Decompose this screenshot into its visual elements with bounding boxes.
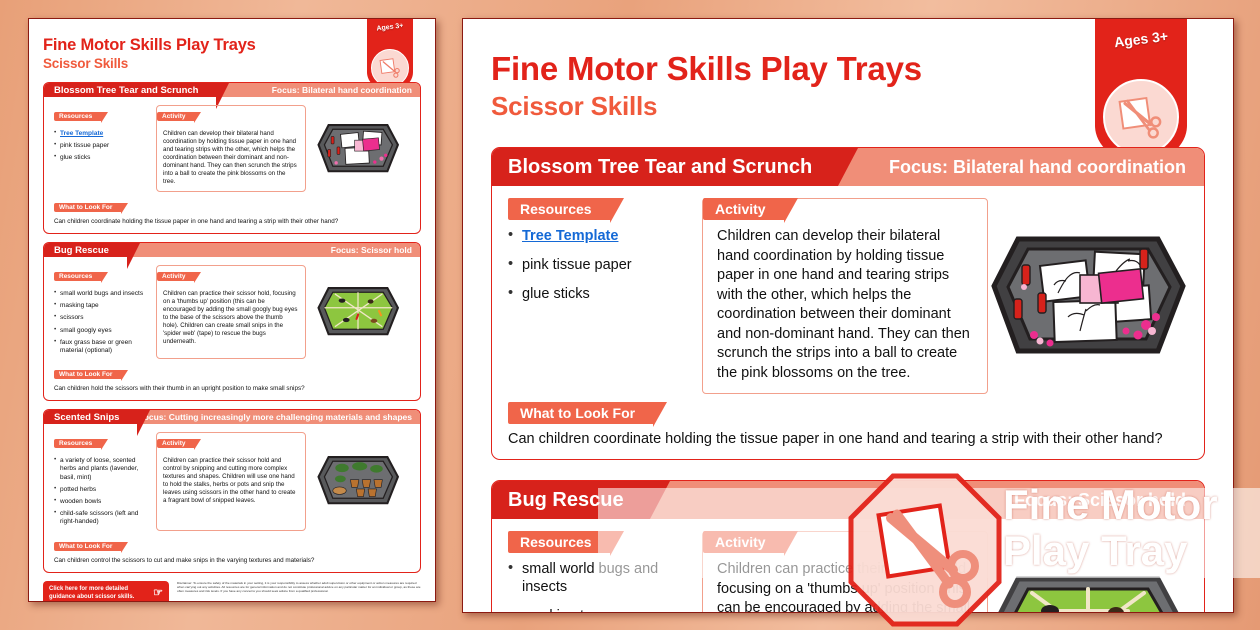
- resources-label: Resources: [508, 198, 610, 220]
- resources-list: Tree Template pink tissue paper glue sti…: [508, 227, 688, 303]
- resources-list: small world bugs and insects masking tap…: [508, 560, 688, 613]
- resources-label: Resources: [54, 439, 101, 448]
- resources-column: Resources small world bugs and insects m…: [54, 265, 150, 359]
- activity-label: Activity: [157, 112, 194, 121]
- activity-column: Activity Children can practice their sci…: [156, 432, 306, 530]
- list-item: Tree Template: [54, 130, 150, 138]
- card-title: Bug Rescue: [44, 243, 127, 257]
- what-to-look-for-text: Can children control the scissors to cut…: [54, 557, 410, 564]
- activity-card[interactable]: Bug Rescue Focus: Scissor hold Resources…: [43, 242, 421, 401]
- card-title: Blossom Tree Tear and Scrunch: [492, 148, 838, 186]
- document-header-thumb: Fine Motor Skills Play Trays Scissor Ski…: [43, 35, 421, 72]
- ages-badge-thumb: Ages 3+: [367, 19, 413, 91]
- activity-label: Activity: [157, 439, 194, 448]
- resources-column: Resources Tree Template pink tissue pape…: [508, 198, 688, 394]
- activity-text: Children can develop their bilateral han…: [163, 130, 299, 186]
- activity-card[interactable]: Scented Snips Focus: Cutting increasingl…: [43, 409, 421, 572]
- list-item: small world bugs and insects: [508, 560, 688, 596]
- card-focus: Focus: Scissor hold: [650, 481, 1204, 519]
- tree-template-link[interactable]: Tree Template: [522, 228, 618, 244]
- what-to-look-for-section: What to Look For Can children hold the s…: [44, 363, 420, 400]
- scissor-skills-guidance-button[interactable]: Click here for more detailed guidance ab…: [43, 581, 169, 602]
- list-item: potted herbs: [54, 486, 150, 494]
- scented-snips-tray-illustration: [306, 432, 410, 530]
- activity-column: Activity Children can practice their sci…: [702, 531, 988, 613]
- list-item: wooden bowls: [54, 498, 150, 506]
- resources-column: Resources small world bugs and insects m…: [508, 531, 688, 613]
- resources-label: Resources: [54, 112, 101, 121]
- what-to-look-for-text: Can children hold the scissors with thei…: [54, 385, 410, 392]
- resources-column: Resources a variety of loose, scented he…: [54, 432, 150, 530]
- activity-card[interactable]: Bug Rescue Focus: Scissor hold Resources…: [491, 480, 1205, 613]
- activity-card[interactable]: Blossom Tree Tear and Scrunch Focus: Bil…: [491, 147, 1205, 460]
- hand-pointer-icon: ☞: [153, 589, 163, 597]
- card-focus: Focus: Bilateral hand coordination: [216, 83, 420, 97]
- what-to-look-for-label: What to Look For: [54, 203, 121, 212]
- activity-column: Activity Children can practice their sci…: [156, 265, 306, 359]
- what-to-look-for-section: What to Look For Can children coordinate…: [44, 196, 420, 233]
- blossom-tree-tray-illustration: [988, 198, 1188, 394]
- document-header-main: Fine Motor Skills Play Trays Scissor Ski…: [491, 49, 1205, 123]
- activity-text: Children can practice their scissor hold…: [717, 560, 973, 613]
- resources-list: a variety of loose, scented herbs and pl…: [54, 457, 150, 526]
- ages-badge-label-thumb: Ages 3+: [367, 21, 414, 34]
- what-to-look-for-section: What to Look For Can children coordinate…: [492, 400, 1204, 459]
- list-item: glue sticks: [54, 154, 150, 162]
- activity-column: Activity Children can develop their bila…: [156, 105, 306, 192]
- disclaimer-text: Disclaimer: To ensure the safety of the …: [177, 581, 421, 593]
- activity-text: Children can practice their scissor hold…: [163, 290, 299, 346]
- resources-list: Tree Template pink tissue paper glue sti…: [54, 130, 150, 163]
- resources-column: Resources Tree Template pink tissue pape…: [54, 105, 150, 192]
- card-focus: Focus: Bilateral hand coordination: [838, 148, 1204, 186]
- card-focus: Focus: Scissor hold: [127, 243, 420, 257]
- list-item: small googly eyes: [54, 327, 150, 335]
- activity-column: Activity Children can develop their bila…: [702, 198, 988, 394]
- list-item: masking tape: [54, 302, 150, 310]
- bug-rescue-tray-illustration: [306, 265, 410, 359]
- page-title-thumb: Fine Motor Skills Play Trays: [43, 35, 421, 55]
- list-item: child-safe scissors (left and right-hand…: [54, 510, 150, 526]
- document-footer: Click here for more detailed guidance ab…: [43, 581, 421, 602]
- ages-badge-label: Ages 3+: [1094, 25, 1187, 52]
- list-item: glue sticks: [508, 285, 688, 303]
- cta-label: Click here for more detailed guidance ab…: [49, 585, 153, 601]
- card-title: Bug Rescue: [492, 481, 650, 519]
- what-to-look-for-label: What to Look For: [54, 542, 121, 551]
- card-title: Scented Snips: [44, 410, 137, 424]
- activity-label: Activity: [703, 198, 784, 220]
- scissors-paper-icon: [1103, 79, 1179, 155]
- list-item: small world bugs and insects: [54, 290, 150, 298]
- activity-text: Children can practice their scissor hold…: [163, 457, 299, 505]
- blossom-tree-tray-illustration: [306, 105, 410, 192]
- main-document-page[interactable]: Fine Motor Skills Play Trays Scissor Ski…: [462, 18, 1234, 613]
- bug-rescue-tray-illustration: [988, 531, 1188, 613]
- list-item: pink tissue paper: [508, 256, 688, 274]
- activity-label: Activity: [703, 531, 784, 553]
- resources-list: small world bugs and insects masking tap…: [54, 290, 150, 355]
- thumbnail-page-preview[interactable]: Fine Motor Skills Play Trays Scissor Ski…: [28, 18, 436, 602]
- list-item: Tree Template: [508, 227, 688, 245]
- what-to-look-for-label: What to Look For: [54, 370, 121, 379]
- tree-template-link[interactable]: Tree Template: [60, 130, 103, 137]
- list-item: masking tape: [508, 607, 688, 613]
- ages-badge: Ages 3+: [1095, 19, 1187, 163]
- activity-card[interactable]: Blossom Tree Tear and Scrunch Focus: Bil…: [43, 82, 421, 234]
- activity-label: Activity: [157, 272, 194, 281]
- list-item: scissors: [54, 314, 150, 322]
- page-subtitle-thumb: Scissor Skills: [43, 55, 421, 72]
- what-to-look-for-label: What to Look For: [508, 402, 653, 424]
- resources-label: Resources: [54, 272, 101, 281]
- resources-label: Resources: [508, 531, 610, 553]
- list-item: pink tissue paper: [54, 142, 150, 150]
- card-focus: Focus: Cutting increasingly more challen…: [137, 410, 420, 424]
- list-item: faux grass base or green material (optio…: [54, 339, 150, 355]
- list-item: a variety of loose, scented herbs and pl…: [54, 457, 150, 482]
- what-to-look-for-text: Can children coordinate holding the tiss…: [54, 218, 410, 225]
- what-to-look-for-text: Can children coordinate holding the tiss…: [508, 431, 1188, 447]
- what-to-look-for-section: What to Look For Can children control th…: [44, 535, 420, 572]
- activity-text: Children can develop their bilateral han…: [717, 227, 973, 383]
- card-title: Blossom Tree Tear and Scrunch: [44, 83, 216, 97]
